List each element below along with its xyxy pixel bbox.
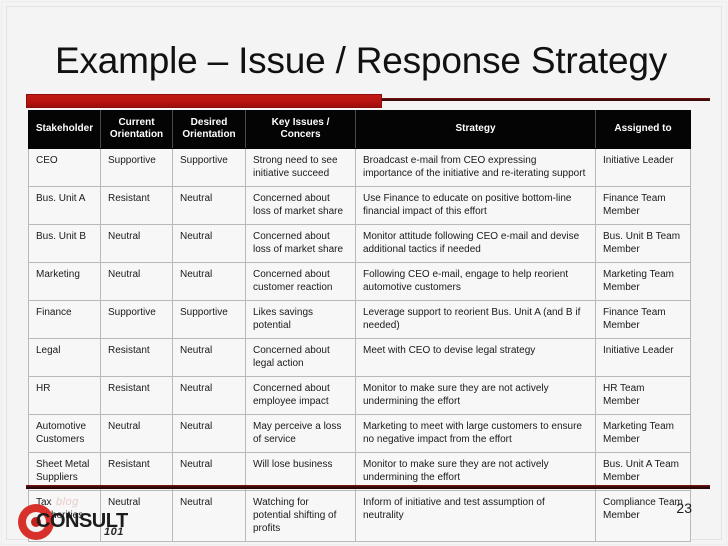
cell-desired-orientation: Supportive: [173, 301, 246, 339]
accent-red-block: [26, 94, 382, 108]
cell-assigned-to: Marketing Team Member: [596, 263, 691, 301]
cell-stakeholder: Automotive Customers: [29, 415, 101, 453]
column-header-desired-orientation[interactable]: Desired Orientation: [173, 111, 246, 149]
cell-strategy: Broadcast e-mail from CEO expressing imp…: [356, 149, 596, 187]
cell-stakeholder: Bus. Unit A: [29, 187, 101, 225]
cell-desired-orientation: Neutral: [173, 377, 246, 415]
cell-assigned-to: Bus. Unit B Team Member: [596, 225, 691, 263]
cell-current-orientation: Supportive: [101, 301, 173, 339]
cell-stakeholder: HR: [29, 377, 101, 415]
cell-assigned-to: Initiative Leader: [596, 149, 691, 187]
cell-desired-orientation: Neutral: [173, 339, 246, 377]
cell-key-issues: Concerned about employee impact: [246, 377, 356, 415]
column-header-stakeholder-line-1: Stakeholder: [36, 123, 93, 134]
cell-assigned-to: HR Team Member: [596, 377, 691, 415]
table-row[interactable]: CEOSupportiveSupportiveStrong need to se…: [29, 149, 691, 187]
column-header-strategy[interactable]: Strategy: [356, 111, 596, 149]
logo-suffix-label: 101: [104, 526, 124, 538]
cell-stakeholder: Finance: [29, 301, 101, 339]
table-row[interactable]: FinanceSupportiveSupportiveLikes savings…: [29, 301, 691, 339]
slide: Example – Issue / Response Strategy Stak…: [0, 0, 728, 546]
cell-key-issues: Concerned about loss of market share: [246, 187, 356, 225]
cell-assigned-to: Initiative Leader: [596, 339, 691, 377]
cell-current-orientation: Resistant: [101, 187, 173, 225]
cell-key-issues: May perceive a loss of service: [246, 415, 356, 453]
footer-rule: [26, 485, 710, 489]
cell-strategy: Meet with CEO to devise legal strategy: [356, 339, 596, 377]
cell-strategy: Leverage support to reorient Bus. Unit A…: [356, 301, 596, 339]
cell-assigned-to: Compliance Team Member: [596, 491, 691, 542]
cell-current-orientation: Resistant: [101, 377, 173, 415]
cell-current-orientation: Neutral: [101, 415, 173, 453]
cell-key-issues: Watching for potential shifting of profi…: [246, 491, 356, 542]
column-header-desired-orientation-line-1: Desired: [191, 117, 228, 128]
table-row[interactable]: Bus. Unit AResistantNeutralConcerned abo…: [29, 187, 691, 225]
page-number: 23: [676, 500, 692, 516]
cell-stakeholder: Marketing: [29, 263, 101, 301]
issue-response-table: Stakeholder Current Orientation Desired …: [28, 110, 691, 542]
title-accent-bar: [26, 94, 710, 108]
cell-desired-orientation: Neutral: [173, 225, 246, 263]
cell-current-orientation: Resistant: [101, 339, 173, 377]
consult-101-logo[interactable]: blog CONSULT 101: [18, 496, 198, 540]
table-row[interactable]: Automotive CustomersNeutralNeutralMay pe…: [29, 415, 691, 453]
table-row[interactable]: HRResistantNeutralConcerned about employ…: [29, 377, 691, 415]
cell-key-issues: Strong need to see initiative succeed: [246, 149, 356, 187]
cell-strategy: Use Finance to educate on positive botto…: [356, 187, 596, 225]
cell-key-issues: Likes savings potential: [246, 301, 356, 339]
column-header-current-orientation[interactable]: Current Orientation: [101, 111, 173, 149]
cell-stakeholder: Legal: [29, 339, 101, 377]
table-row[interactable]: LegalResistantNeutralConcerned about leg…: [29, 339, 691, 377]
column-header-desired-orientation-line-2: Orientation: [182, 129, 235, 140]
cell-desired-orientation: Neutral: [173, 187, 246, 225]
cell-strategy: Monitor attitude following CEO e-mail an…: [356, 225, 596, 263]
table-header: Stakeholder Current Orientation Desired …: [29, 111, 691, 149]
cell-current-orientation: Supportive: [101, 149, 173, 187]
cell-assigned-to: Finance Team Member: [596, 187, 691, 225]
cell-desired-orientation: Neutral: [173, 415, 246, 453]
column-header-strategy-line-1: Strategy: [455, 123, 495, 134]
logo-blog-label: blog: [56, 496, 79, 508]
table-row[interactable]: Bus. Unit BNeutralNeutralConcerned about…: [29, 225, 691, 263]
column-header-key-issues-line-1: Key Issues /: [272, 117, 330, 128]
cell-strategy: Marketing to meet with large customers t…: [356, 415, 596, 453]
cell-key-issues: Concerned about legal action: [246, 339, 356, 377]
table-header-row: Stakeholder Current Orientation Desired …: [29, 111, 691, 149]
issue-response-table-container: Stakeholder Current Orientation Desired …: [28, 110, 690, 542]
cell-key-issues: Concerned about customer reaction: [246, 263, 356, 301]
column-header-stakeholder[interactable]: Stakeholder: [29, 111, 101, 149]
table-row[interactable]: MarketingNeutralNeutralConcerned about c…: [29, 263, 691, 301]
cell-strategy: Following CEO e-mail, engage to help reo…: [356, 263, 596, 301]
cell-stakeholder: Bus. Unit B: [29, 225, 101, 263]
cell-key-issues: Concerned about loss of market share: [246, 225, 356, 263]
cell-assigned-to: Finance Team Member: [596, 301, 691, 339]
cell-desired-orientation: Supportive: [173, 149, 246, 187]
table-body: CEOSupportiveSupportiveStrong need to se…: [29, 149, 691, 542]
cell-assigned-to: Marketing Team Member: [596, 415, 691, 453]
column-header-key-issues-line-2: Concers: [280, 129, 320, 140]
column-header-current-orientation-line-2: Orientation: [110, 129, 163, 140]
column-header-key-issues[interactable]: Key Issues / Concers: [246, 111, 356, 149]
cell-strategy: Monitor to make sure they are not active…: [356, 377, 596, 415]
column-header-assigned-to-line-1: Assigned to: [614, 123, 671, 134]
page-title: Example – Issue / Response Strategy: [55, 38, 695, 84]
cell-current-orientation: Neutral: [101, 225, 173, 263]
cell-strategy: Inform of initiative and test assumption…: [356, 491, 596, 542]
cell-current-orientation: Neutral: [101, 263, 173, 301]
column-header-current-orientation-line-1: Current: [118, 117, 154, 128]
column-header-assigned-to[interactable]: Assigned to: [596, 111, 691, 149]
cell-desired-orientation: Neutral: [173, 263, 246, 301]
cell-stakeholder: CEO: [29, 149, 101, 187]
